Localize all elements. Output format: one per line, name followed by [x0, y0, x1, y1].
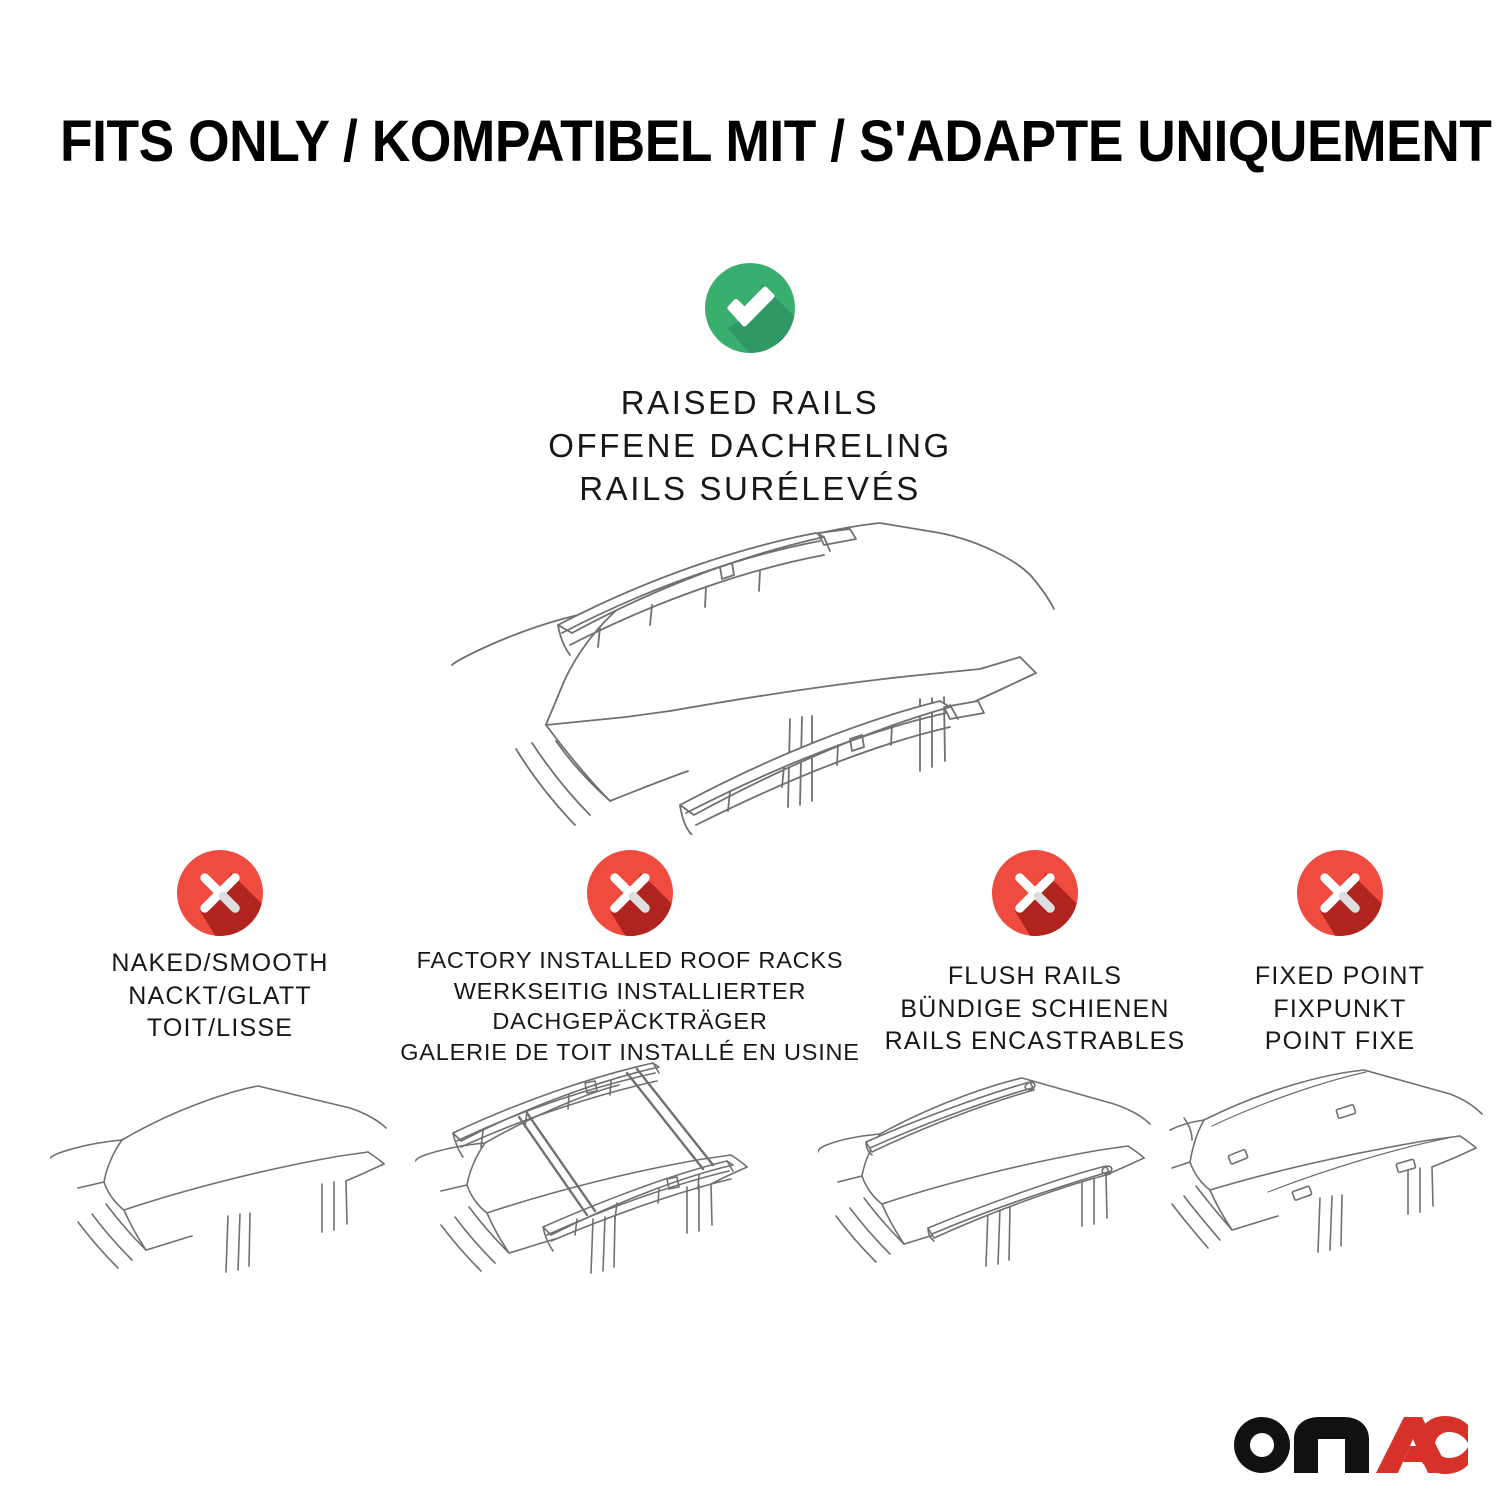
cross-circle-icon [1296, 849, 1384, 937]
incompatible-caption-naked-smooth: NAKED/SMOOTH NACKT/GLATT TOIT/LISSE [40, 947, 400, 1045]
compatible-caption-line: OFFENE DACHRELING [0, 425, 1500, 468]
check-circle-icon [704, 262, 796, 354]
incompatible-caption-flush-rails: FLUSH RAILS BÜNDIGE SCHIENEN RAILS ENCAS… [855, 960, 1215, 1058]
cross-circle-icon [991, 849, 1079, 937]
page-title: FITS ONLY / KOMPATIBEL MIT / S'ADAPTE UN… [60, 108, 1440, 175]
incompatible-caption-line: NACKT/GLATT [40, 980, 400, 1013]
fitment-compatibility-infographic: FITS ONLY / KOMPATIBEL MIT / S'ADAPTE UN… [0, 0, 1500, 1500]
car-roof-fixed-point-illustration [1168, 1060, 1500, 1285]
omac-logo [1232, 1405, 1468, 1477]
incompatible-caption-line: POINT FIXE [1165, 1025, 1500, 1058]
incompatible-caption-line: FLUSH RAILS [855, 960, 1215, 993]
incompatible-caption-line: RAILS ENCASTRABLES [855, 1025, 1215, 1058]
car-roof-naked-smooth-illustration [50, 1060, 420, 1285]
cross-circle-icon [176, 849, 264, 937]
incompatible-caption-line: WERKSEITIG INSTALLIERTER [395, 976, 865, 1007]
incompatible-caption-line: DACHGEPÄCKTRÄGER [395, 1006, 865, 1037]
car-roof-flush-rails-illustration [818, 1060, 1193, 1285]
cross-circle-icon [586, 849, 674, 937]
car-roof-factory-rack-illustration [415, 1055, 795, 1285]
car-roof-raised-rails-illustration [420, 505, 1080, 835]
compatible-caption-line: RAISED RAILS [0, 382, 1500, 425]
incompatible-caption-line: TOIT/LISSE [40, 1012, 400, 1045]
compatible-caption: RAISED RAILS OFFENE DACHRELING RAILS SUR… [0, 382, 1500, 511]
incompatible-caption-fixed-point: FIXED POINT FIXPUNKT POINT FIXE [1165, 960, 1500, 1058]
incompatible-caption-line: FIXPUNKT [1165, 993, 1500, 1026]
incompatible-caption-factory-rack: FACTORY INSTALLED ROOF RACKS WERKSEITIG … [395, 945, 865, 1067]
incompatible-caption-line: NAKED/SMOOTH [40, 947, 400, 980]
incompatible-caption-line: FIXED POINT [1165, 960, 1500, 993]
incompatible-caption-line: FACTORY INSTALLED ROOF RACKS [395, 945, 865, 976]
incompatible-caption-line: BÜNDIGE SCHIENEN [855, 993, 1215, 1026]
